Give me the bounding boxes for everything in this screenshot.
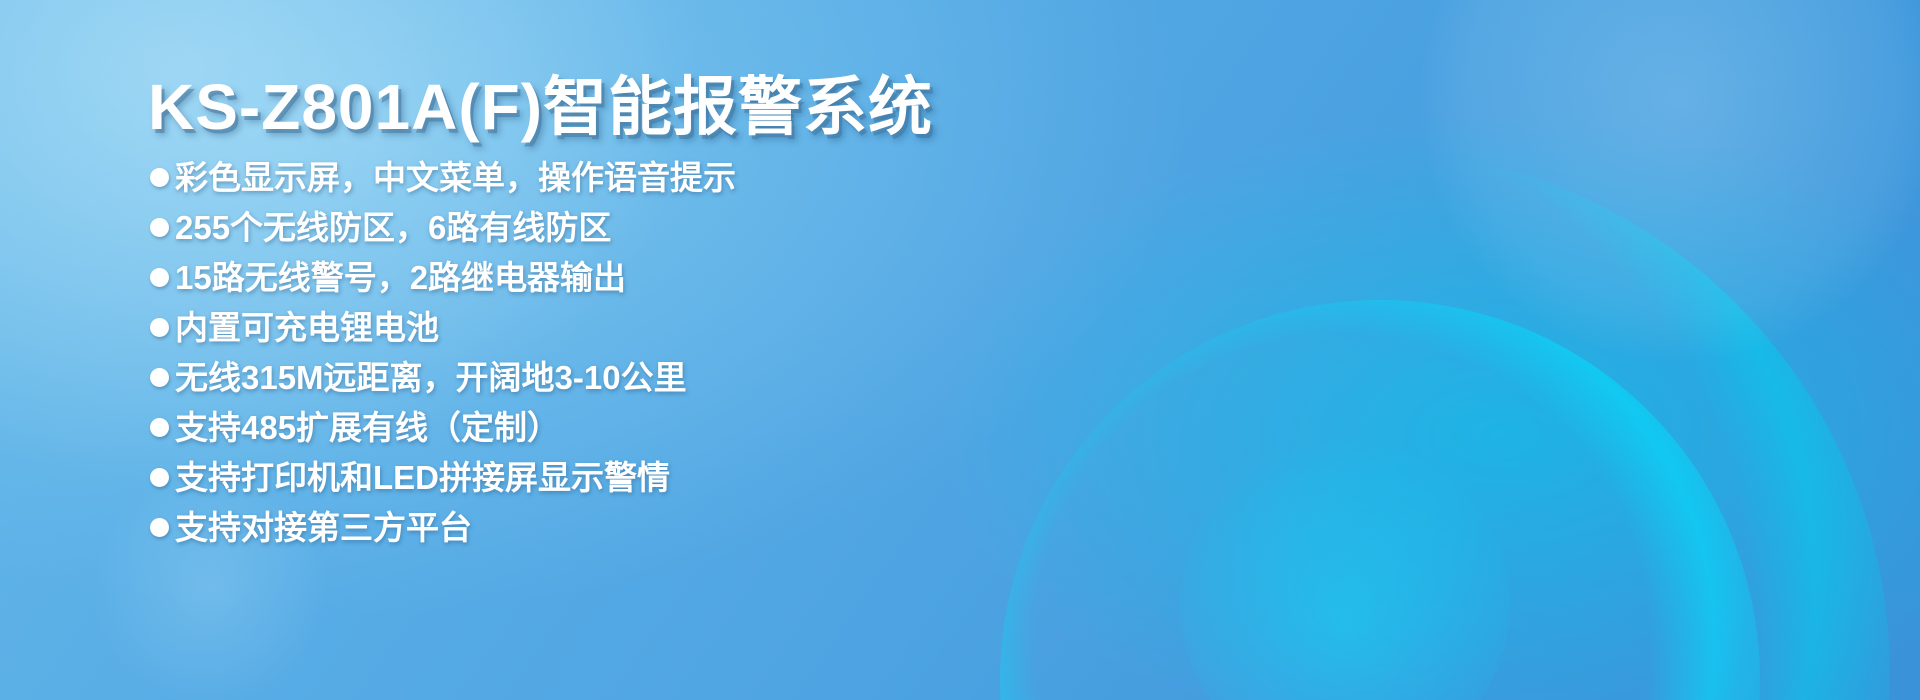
product-banner: KS-Z801A(F)智能报警系统 彩色显示屏，中文菜单，操作语音提示 255个… — [0, 0, 1920, 700]
bullet-dot-icon — [150, 468, 169, 487]
bullet-dot-icon — [150, 318, 169, 337]
drop-shadow — [1915, 492, 1920, 536]
page-title: KS-Z801A(F)智能报警系统 — [148, 56, 933, 148]
feature-text: 支持485扩展有线（定制） — [175, 411, 560, 444]
list-item: 支持打印机和LED拼接屏显示警情 — [150, 452, 736, 502]
bullet-dot-icon — [150, 218, 169, 237]
list-item: 支持对接第三方平台 — [150, 502, 736, 552]
feature-text: 支持打印机和LED拼接屏显示警情 — [175, 461, 670, 494]
bullet-dot-icon — [150, 418, 169, 437]
list-item: 15路无线警号，2路继电器输出 — [150, 252, 736, 302]
bullet-dot-icon — [150, 268, 169, 287]
list-item: 255个无线防区，6路有线防区 — [150, 202, 736, 252]
feature-text: 255个无线防区，6路有线防区 — [175, 211, 611, 244]
bullet-dot-icon — [150, 518, 169, 537]
banner-content: KS-Z801A(F)智能报警系统 彩色显示屏，中文菜单，操作语音提示 255个… — [0, 0, 960, 700]
list-item: 支持485扩展有线（定制） — [150, 402, 736, 452]
feature-text: 内置可充电锂电池 — [175, 311, 439, 344]
feature-list: 彩色显示屏，中文菜单，操作语音提示 255个无线防区，6路有线防区 15路无线警… — [150, 152, 736, 552]
feature-text: 无线315M远距离，开阔地3-10公里 — [175, 361, 687, 394]
list-item: 彩色显示屏，中文菜单，操作语音提示 — [150, 152, 736, 202]
bullet-dot-icon — [150, 368, 169, 387]
bullet-dot-icon — [150, 168, 169, 187]
feature-text: 支持对接第三方平台 — [175, 511, 472, 544]
feature-text: 彩色显示屏，中文菜单，操作语音提示 — [175, 161, 736, 194]
feature-text: 15路无线警号，2路继电器输出 — [175, 261, 626, 294]
list-item: 内置可充电锂电池 — [150, 302, 736, 352]
list-item: 无线315M远距离，开阔地3-10公里 — [150, 352, 736, 402]
alarm-panel-product-image: ▼ 22 27 01-01-01 从机撤防 交流电 — [930, 0, 1920, 700]
